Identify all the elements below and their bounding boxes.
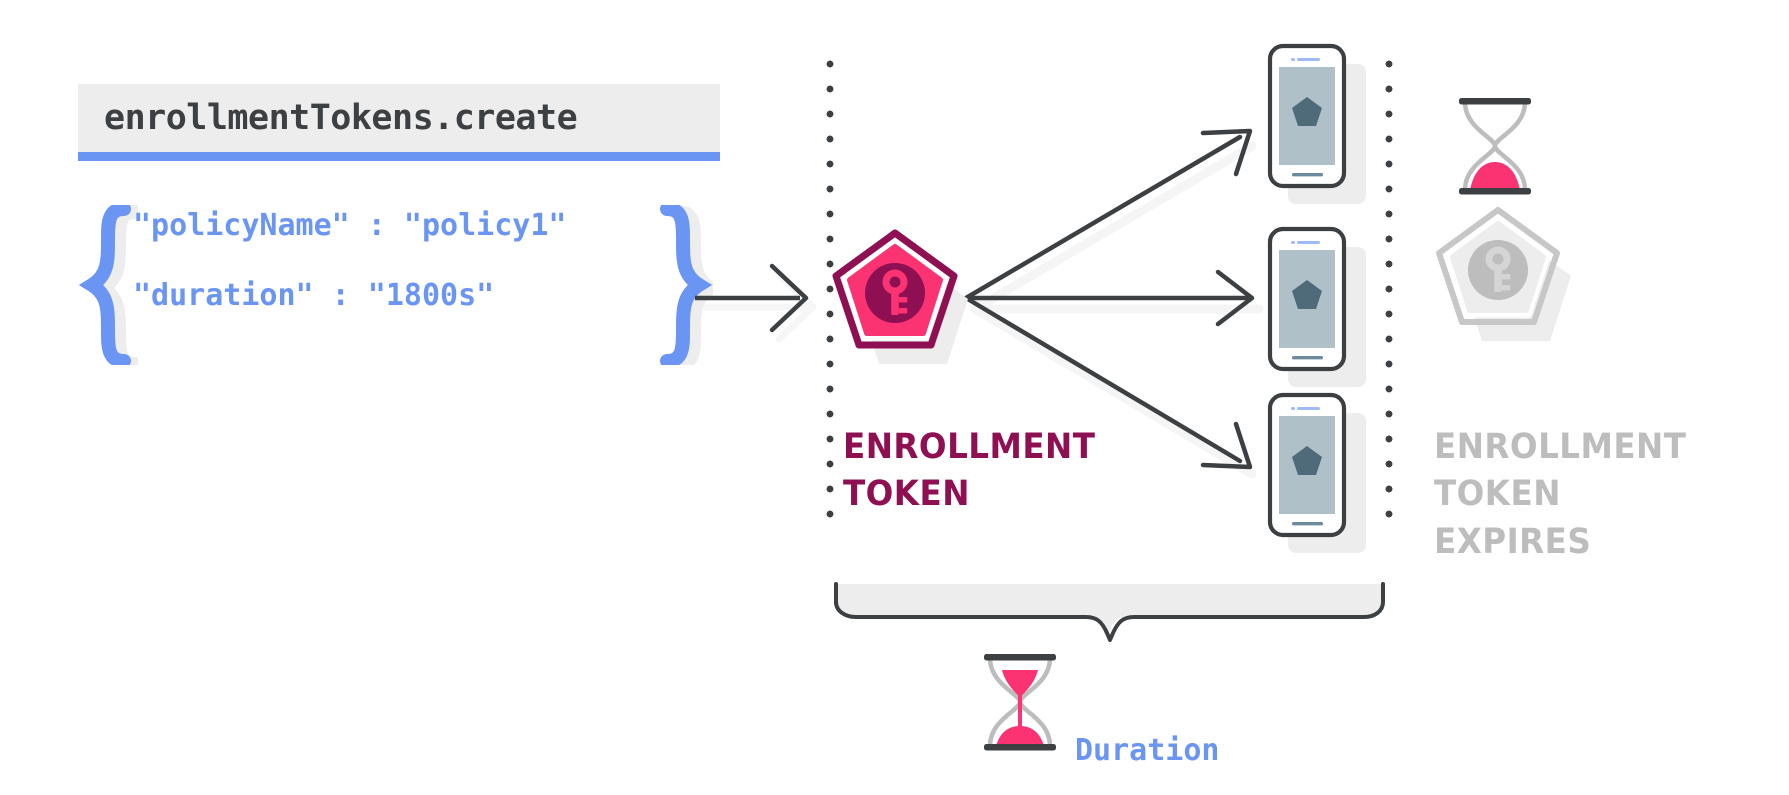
enrollment-token-label-line2: TOKEN xyxy=(843,471,1113,518)
expires-label-line2: TOKEN xyxy=(1434,471,1713,518)
hourglass-running-icon xyxy=(984,654,1056,751)
duration-brace xyxy=(836,584,1383,640)
duration-caption: Duration 1800 seconds xyxy=(1075,660,1292,795)
enrollment-token-label-line1: ENROLLMENT xyxy=(843,424,1113,471)
dotted-divider-left xyxy=(826,60,834,530)
device-phone-3 xyxy=(1270,395,1366,553)
close-brace-icon xyxy=(653,205,713,365)
token-distribution-arrows xyxy=(966,131,1259,474)
device-phone-1 xyxy=(1270,46,1366,204)
expires-label-line1: ENROLLMENT xyxy=(1434,424,1713,471)
hourglass-full-icon xyxy=(1459,98,1531,195)
request-body-lines: "policyName" : "policy1" "duration" : "1… xyxy=(133,211,693,311)
request-body-line-policyname: "policyName" : "policy1" xyxy=(133,211,693,241)
dotted-divider-right xyxy=(1385,60,1393,530)
request-body-line-duration: "duration" : "1800s" xyxy=(133,281,693,311)
expires-label-line3: EXPIRES xyxy=(1434,519,1713,566)
enrollment-token-badge xyxy=(836,233,968,364)
api-method-header: enrollmentTokens.create xyxy=(78,84,720,152)
duration-caption-title: Duration xyxy=(1075,733,1292,770)
device-phone-2 xyxy=(1270,229,1366,387)
open-brace-icon xyxy=(78,205,138,365)
enrollment-token-label: ENROLLMENT TOKEN xyxy=(843,424,1113,519)
api-header-underline xyxy=(78,152,720,161)
arrow-to-device-2 xyxy=(966,272,1252,324)
arrow-to-device-1 xyxy=(966,131,1250,298)
expired-token-badge xyxy=(1439,210,1571,341)
request-body-block: "policyName" : "policy1" "duration" : "1… xyxy=(78,205,738,365)
diagram-canvas: enrollmentTokens.create "policyName" : "… xyxy=(0,0,1789,795)
api-method-name: enrollmentTokens.create xyxy=(104,98,577,138)
enrollment-token-expires-label: ENROLLMENT TOKEN EXPIRES xyxy=(1434,424,1713,566)
